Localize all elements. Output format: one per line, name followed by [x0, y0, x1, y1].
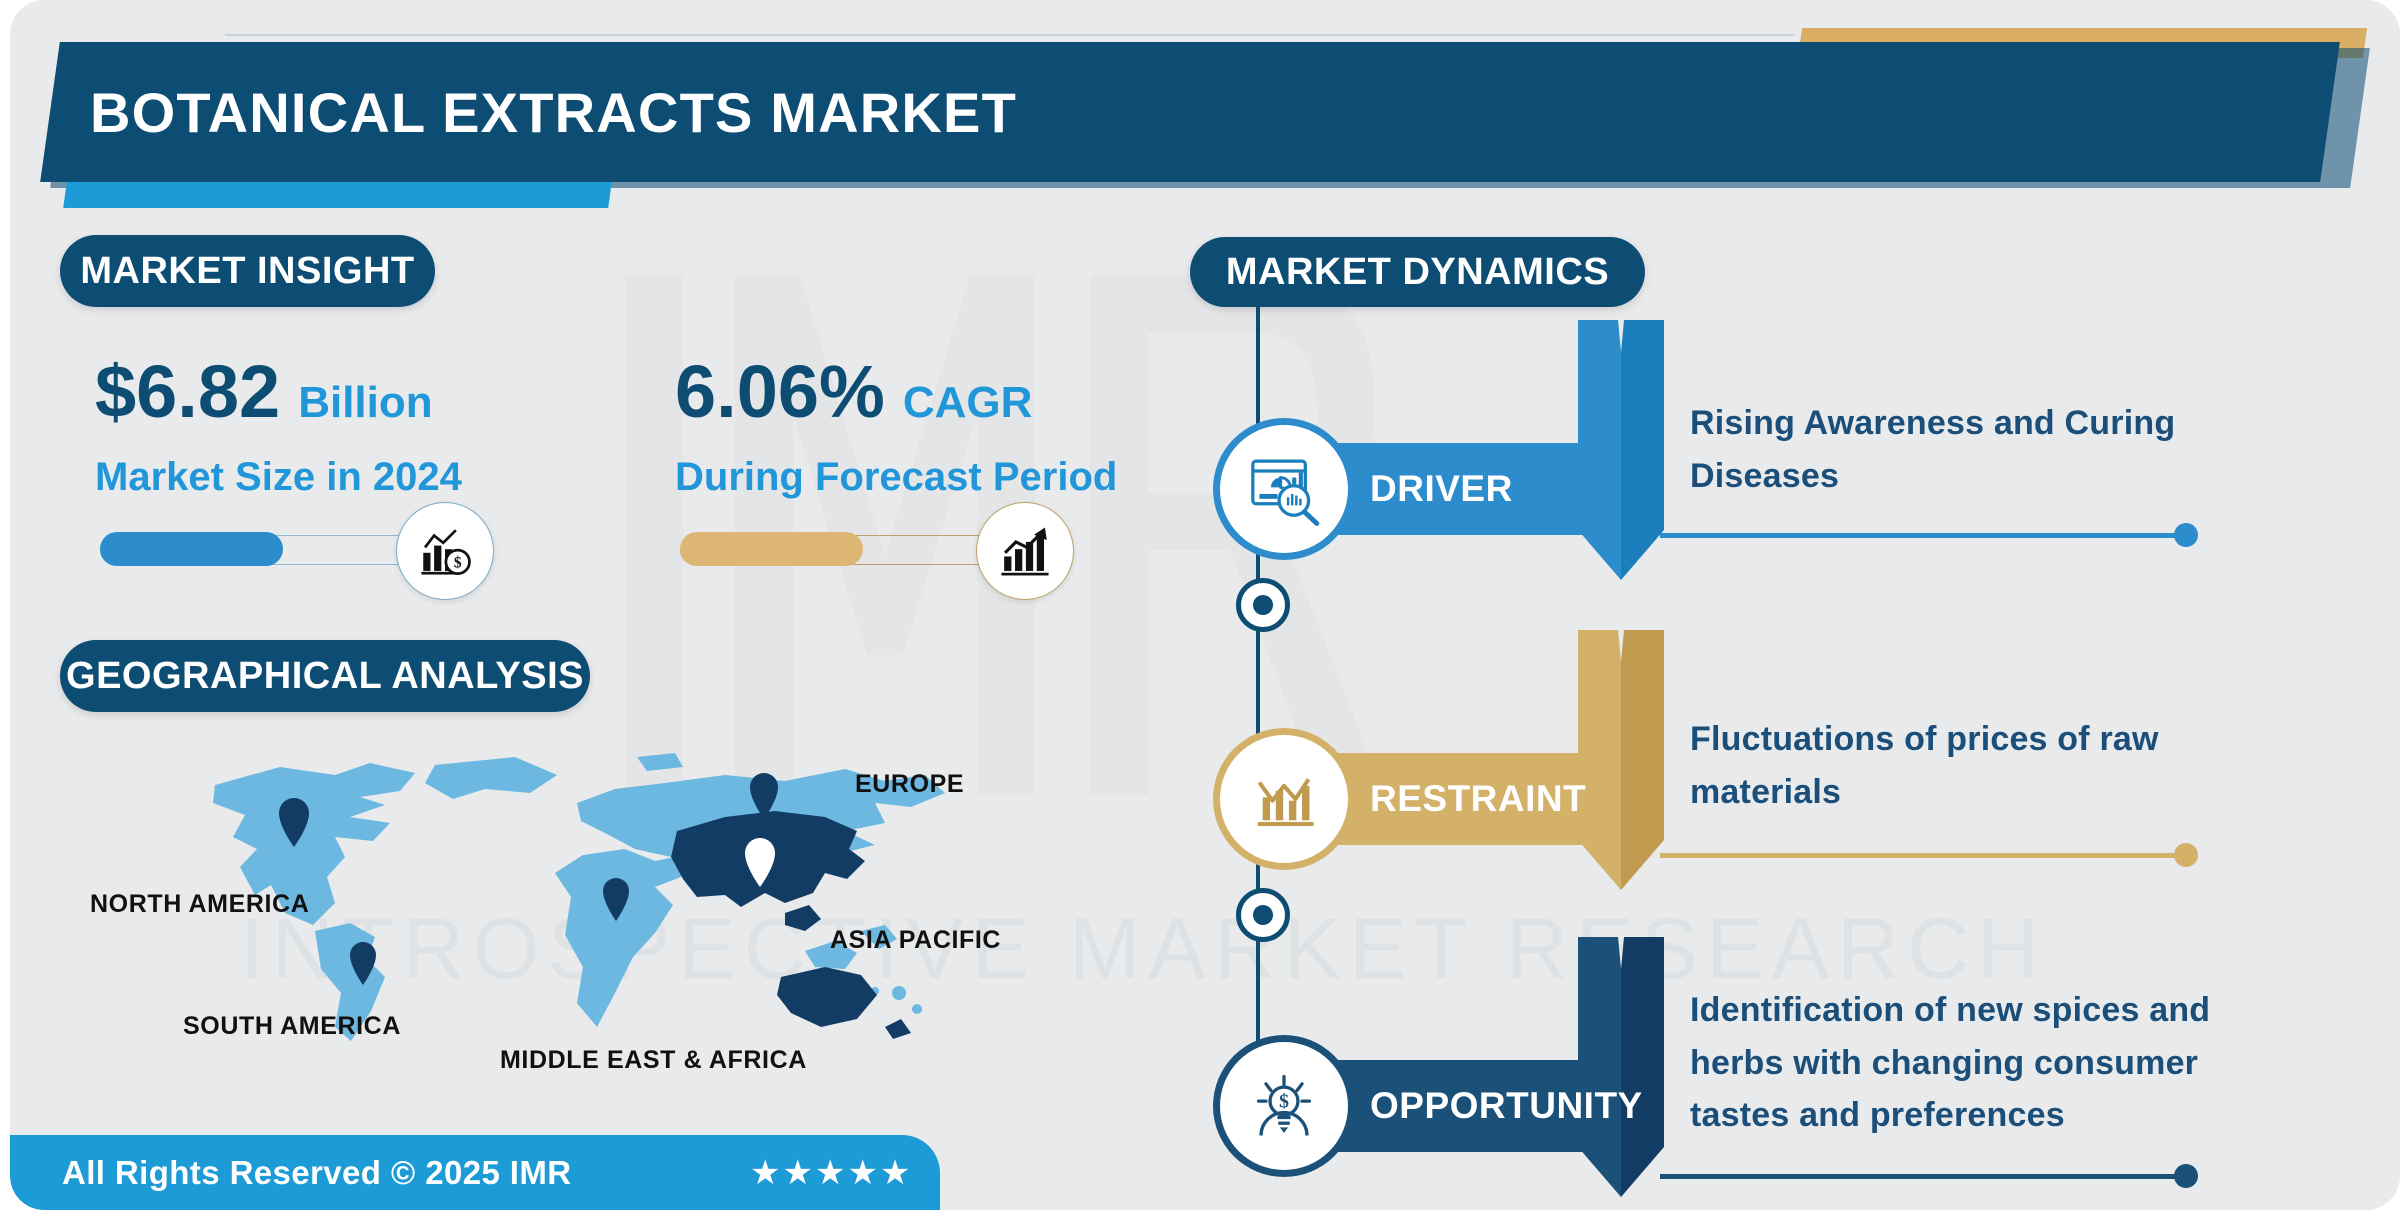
map-continents-highlighted-asia-pacific: [671, 811, 911, 1039]
restraint-connector-dot: [2174, 843, 2198, 867]
map-label-middle-east-africa: MIDDLE EAST & AFRICA: [500, 1046, 807, 1075]
progress-bar-cagr: [680, 532, 1010, 566]
map-label-europe: EUROPE: [855, 770, 964, 799]
map-label-north-america: NORTH AMERICA: [90, 890, 309, 919]
kpi-market-size-caption: Market Size in 2024: [95, 455, 615, 500]
declining-bar-chart-icon: [1220, 735, 1348, 863]
driver-label: DRIVER: [1370, 443, 1513, 535]
kpi-market-size-value: $6.82: [95, 355, 280, 429]
footer-bar: All Rights Reserved © 2025 IMR ★★★★★: [10, 1135, 940, 1210]
analytics-report-magnifier-icon: [1220, 425, 1348, 553]
kpi-market-size: $6.82 Billion Market Size in 2024: [95, 355, 615, 500]
opportunity-connector: [1660, 1174, 2190, 1179]
driver-connector: [1660, 533, 2190, 538]
progress-fill: [100, 532, 283, 566]
restraint-label: RESTRAINT: [1370, 753, 1586, 845]
section-pill-market-insight: MARKET INSIGHT: [60, 235, 435, 307]
section-pill-geographical-analysis: GEOGRAPHICAL ANALYSIS: [60, 640, 590, 712]
footer-star-rating: ★★★★★: [750, 1153, 912, 1193]
restraint-connector: [1660, 853, 2190, 858]
driver-description: Rising Awareness and Curing Diseases: [1690, 397, 2290, 502]
restraint-ribbon: [1578, 630, 1664, 890]
footer-copyright: All Rights Reserved © 2025 IMR: [62, 1154, 571, 1192]
kpi-cagr-unit: CAGR: [903, 381, 1033, 425]
page-panel: INTROSPECTIVE MARKET RESEARCH BOTANICAL …: [10, 0, 2400, 1210]
kpi-cagr-value: 6.06%: [675, 355, 885, 429]
svg-text:$: $: [454, 554, 462, 571]
growth-arrow-chart-icon: [976, 502, 1074, 600]
driver-connector-dot: [2174, 523, 2198, 547]
restraint-description: Fluctuations of prices of raw materials: [1690, 713, 2260, 818]
header-hairline: [225, 34, 1795, 36]
progress-fill: [680, 532, 863, 566]
map-label-asia-pacific: ASIA PACIFIC: [830, 926, 1001, 955]
driver-ribbon: [1578, 320, 1664, 580]
timeline-node: [1236, 578, 1290, 632]
progress-bar-market-size: $: [100, 532, 430, 566]
lightbulb-dollar-icon: $: [1220, 1042, 1348, 1170]
infographic-canvas: INTROSPECTIVE MARKET RESEARCH BOTANICAL …: [0, 0, 2400, 1210]
bar-chart-dollar-icon: $: [396, 502, 494, 600]
kpi-market-size-unit: Billion: [298, 381, 432, 425]
svg-text:$: $: [1279, 1091, 1289, 1113]
page-title: BOTANICAL EXTRACTS MARKET: [90, 72, 2190, 152]
map-label-south-america: SOUTH AMERICA: [183, 1012, 401, 1041]
kpi-cagr-caption: During Forecast Period: [675, 455, 1235, 500]
header-blue-accent: [63, 182, 612, 208]
section-pill-market-dynamics: MARKET DYNAMICS: [1190, 237, 1645, 307]
kpi-cagr: 6.06% CAGR During Forecast Period: [675, 355, 1235, 500]
opportunity-label: OPPORTUNITY: [1370, 1060, 1643, 1152]
timeline-node: [1236, 888, 1290, 942]
opportunity-description: Identification of new spices and herbs w…: [1690, 984, 2280, 1142]
opportunity-connector-dot: [2174, 1164, 2198, 1188]
